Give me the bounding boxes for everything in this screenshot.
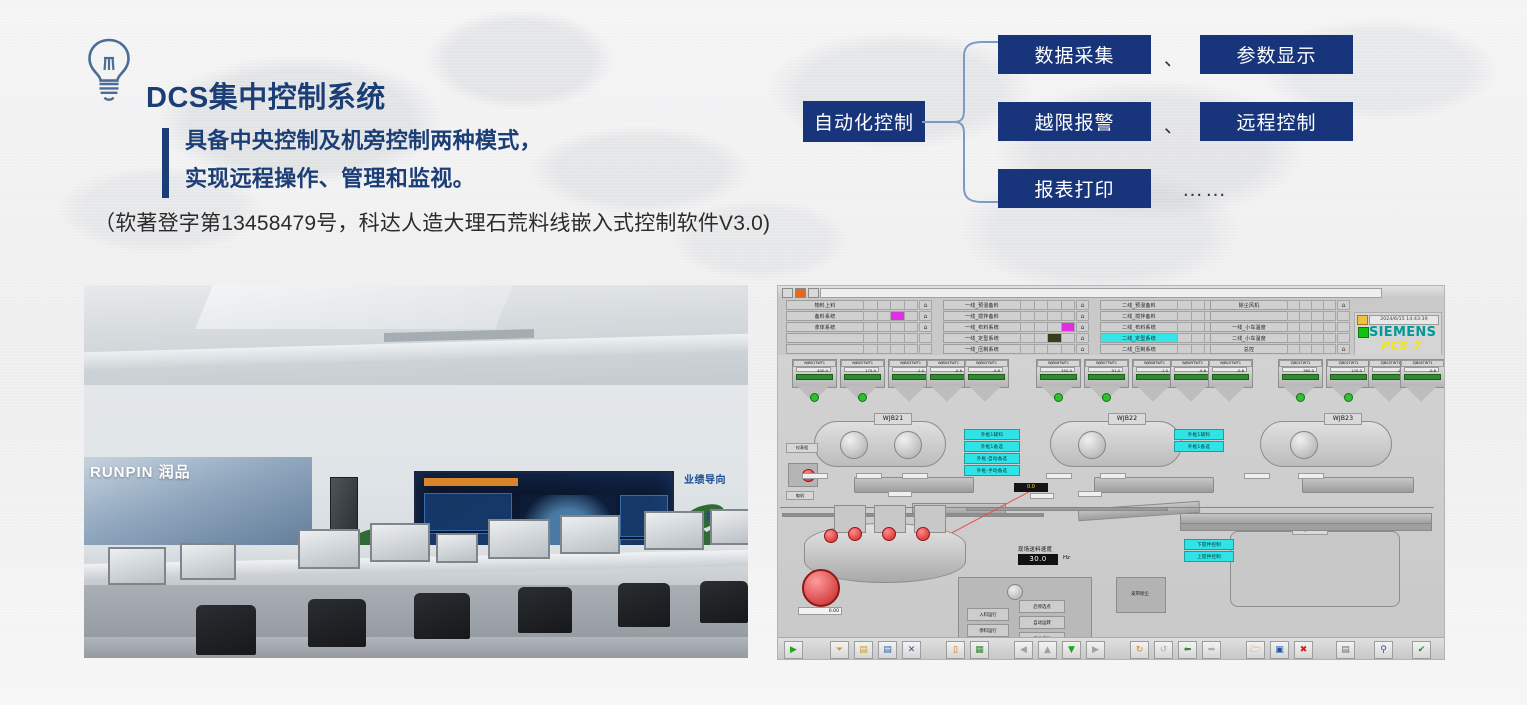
hmi-state-cell: [1323, 300, 1336, 310]
hmi-state-cells: [1021, 311, 1075, 321]
hmi-state-cell: [1034, 300, 1049, 310]
conveyor-frame: [782, 513, 1044, 517]
hmi-state-cell: [1323, 311, 1336, 321]
subtitle-block: 具备中央控制及机旁控制两种模式， 实现远程操作、管理和监视。: [162, 122, 542, 198]
hmi-area-label: 浆体系统: [786, 322, 864, 332]
measurement-field: [1078, 491, 1102, 497]
shuffle-icon[interactable]: ✕: [902, 641, 921, 659]
hmi-state-cells: [1021, 300, 1075, 310]
hmi-state-cell: [1177, 333, 1192, 343]
silo-cone: [1405, 386, 1437, 402]
silo-tag: ZJB02TWT1: [1327, 360, 1370, 367]
silo-cone: [893, 386, 925, 402]
hmi-area-row[interactable]: 浆体系统 ⌂: [786, 322, 932, 332]
page-title: DCS集中控制系统: [146, 74, 386, 116]
pcs7-logo: PCS 7: [1381, 339, 1422, 353]
key-icon[interactable]: ⚲: [1374, 641, 1393, 659]
control-room-photo: RUNPIN 润品 业绩导向 合作: [84, 285, 748, 658]
hmi-area-label: 除尘风机: [1210, 300, 1288, 310]
silo-unit[interactable]: WJB08TWT1 -1.0: [1132, 359, 1175, 405]
hmi-area-row[interactable]: [1210, 311, 1350, 321]
silo-unit[interactable]: WJB01TWT1 400.0: [792, 359, 835, 405]
mixer-rotor-icon: [1290, 431, 1318, 459]
hmi-scada-screenshot: 物料上料 ⌂ 备料系统 ⌂ 浆体: [777, 285, 1445, 660]
led-wall-title-bar: [424, 478, 518, 486]
hmi-bell-icon[interactable]: [919, 344, 932, 354]
hmi-bell-icon[interactable]: ⌂: [1076, 322, 1089, 332]
hmi-area-label: [786, 344, 864, 354]
silo-tag: WJB02TWT1: [841, 360, 884, 367]
hmi-state-cells: [864, 300, 918, 310]
office-chair: [414, 593, 470, 639]
operator-monitor: [436, 533, 478, 563]
silo-value: 350.0: [1040, 367, 1075, 372]
hmi-state-cell: [1034, 311, 1049, 321]
hmi-state-cell: [877, 344, 892, 354]
measurement-field: [1046, 473, 1072, 479]
alarm-signal-line: [994, 507, 1434, 508]
office-chair: [518, 587, 572, 633]
silo-value: 380.0: [1282, 367, 1317, 372]
hmi-area-label-selected: 二线_定型系统: [1100, 333, 1178, 343]
office-chair: [618, 583, 670, 627]
hmi-area-row[interactable]: 一线_小车温度: [1210, 322, 1350, 332]
alarm-icon[interactable]: [795, 288, 806, 298]
measurement-field: [856, 473, 882, 479]
silo-cone: [1137, 386, 1169, 402]
silo-status-led-icon: [1296, 393, 1305, 402]
flow-box-parameter-display[interactable]: 参数显示: [1200, 35, 1353, 74]
hmi-state-cell: [1177, 300, 1192, 310]
press-unit[interactable]: [1230, 531, 1400, 607]
hmi-bell-icon[interactable]: ⌂: [1076, 311, 1089, 321]
hmi-state-cell: [890, 333, 905, 343]
silo-unit[interactable]: ZJB02TWT1 120.0: [1326, 359, 1369, 405]
silo-level-bar: [1282, 374, 1319, 380]
hmi-process-canvas[interactable]: WJB01TWT1 400.0 WJB02TWT1 175.0 WJB03TWT…: [778, 355, 1444, 637]
silo-tag: WJB01TWT1: [793, 360, 836, 367]
hmi-bell-icon[interactable]: ⌂: [1337, 300, 1350, 310]
office-chair: [196, 605, 256, 655]
silo-tag: WJB05TWT1: [965, 360, 1008, 367]
silo-unit[interactable]: WJB05TWT1 -0.6: [964, 359, 1007, 405]
hmi-state-cell: [1177, 311, 1192, 321]
flow-separator-2: 、: [1164, 111, 1183, 138]
silo-value: -1.0: [892, 367, 927, 372]
mixer-rotor-icon: [894, 431, 922, 459]
silo-unit[interactable]: WJB02TWT1 175.0: [840, 359, 883, 405]
valve-icon[interactable]: [916, 527, 930, 541]
silo-tag: ZJB04TWT1: [1401, 360, 1444, 367]
hmi-area-row[interactable]: 二线_小车温度: [1210, 333, 1350, 343]
measurement-field: [1298, 473, 1324, 479]
hmi-area-label: 二线_压制系统: [1100, 344, 1178, 354]
hmi-area-label: 二线_搅拌备料: [1100, 311, 1178, 321]
hmi-area-label: 备料系统: [786, 311, 864, 321]
silo-value: -1.0: [1136, 367, 1171, 372]
hmi-state-cell: [890, 344, 905, 354]
nav-down-icon[interactable]: ▼: [1062, 641, 1081, 659]
run-icon[interactable]: ▶: [784, 641, 803, 659]
close-red-icon[interactable]: ✖: [1294, 641, 1313, 659]
hmi-state-cell: [1034, 333, 1049, 343]
silo-status-led-icon: [858, 393, 867, 402]
silo-status-led-icon: [810, 393, 819, 402]
measurement-field: [888, 491, 912, 497]
measurement-field: [1030, 493, 1054, 499]
hmi-bell-icon[interactable]: [1337, 311, 1350, 321]
silo-tag: WJB06TWT1: [1037, 360, 1080, 367]
speed-panel-unit: Hz: [1063, 555, 1070, 561]
flow-box-remote-control[interactable]: 远程控制: [1200, 102, 1353, 141]
silo-value: -0.6: [1212, 367, 1247, 372]
speed-panel-label: 现场送料速度: [1018, 545, 1052, 553]
hmi-state-cell: [863, 344, 878, 354]
left-panel-label-1: 仪表柜: [786, 443, 818, 453]
hmi-area-label: 物料上料: [786, 300, 864, 310]
silo-tag: WJB10TWT1: [1209, 360, 1252, 367]
hmi-area-label: [786, 333, 864, 343]
flow-ellipsis: ……: [1182, 178, 1228, 202]
status-led-icon: [1358, 327, 1369, 338]
silo-value: -0.6: [968, 367, 1003, 372]
hmi-area-label: 一线_定型系统: [943, 333, 1021, 343]
operator-monitor: [108, 547, 166, 585]
hmi-state-cell: [877, 322, 892, 332]
silo-unit[interactable]: WJB04TWT1 -0.6: [926, 359, 969, 405]
mixer-unit[interactable]: [1050, 421, 1182, 467]
operator-monitor: [488, 519, 550, 559]
conveyor-belt[interactable]: [1094, 477, 1214, 493]
hmi-area-overview: 物料上料 ⌂ 备料系统 ⌂ 浆体: [778, 298, 1444, 355]
hmi-state-cell: [904, 300, 919, 310]
banner-text: RUNPIN 润品: [90, 461, 191, 482]
office-chair: [700, 581, 748, 623]
silo-level-bar: [796, 374, 833, 380]
hmi-state-cell-warning: [1047, 333, 1062, 343]
cyan-command-button[interactable]: 下搅拌控制: [1184, 539, 1234, 550]
hmi-bell-icon[interactable]: ⌂: [1076, 300, 1089, 310]
hmi-bell-icon[interactable]: ⌂: [919, 322, 932, 332]
measurement-field: [1100, 473, 1126, 479]
hmi-state-cells: [1021, 333, 1075, 343]
hmi-area-column: 除尘风机 ⌂ 一线_小车温度: [1210, 300, 1350, 355]
hmi-state-cell: [877, 311, 892, 321]
mixer-rotor-icon: [1078, 431, 1106, 459]
cyan-command-button[interactable]: 外框1辅料: [1174, 429, 1224, 440]
floor: [84, 637, 748, 658]
hmi-state-cell: [1020, 344, 1035, 354]
hmi-state-cell: [1323, 333, 1336, 343]
hmi-bell-icon[interactable]: ⌂: [1076, 333, 1089, 343]
silo-level-bar: [1330, 374, 1367, 380]
copy-icon[interactable]: ▤: [854, 641, 873, 659]
hmi-state-cell: [1061, 311, 1076, 321]
silo-value: -0.6: [1174, 367, 1209, 372]
hmi-area-row[interactable]: 一线_搅拌备料 ⌂: [943, 311, 1089, 321]
operator-monitor: [370, 523, 430, 562]
hmi-state-cell: [904, 344, 919, 354]
hmi-area-row[interactable]: [786, 333, 932, 343]
filter-icon[interactable]: ⏷: [830, 641, 849, 659]
hmi-bell-icon[interactable]: ⌂: [1076, 344, 1089, 354]
rotary-dial-value: 0.00: [798, 607, 842, 615]
hmi-area-label: 二线_预混备料: [1100, 300, 1178, 310]
faceplate-motor-icon: [1007, 584, 1023, 600]
valve-icon[interactable]: [848, 527, 862, 541]
open-folder-icon[interactable]: 🗁: [1246, 641, 1265, 659]
hmi-state-cell: [1034, 344, 1049, 354]
hmi-state-cell: [904, 322, 919, 332]
silo-level-bar: [1136, 374, 1173, 380]
mixer-rotor-icon: [840, 431, 868, 459]
cyan-command-button[interactable]: 上搅拌控制: [1184, 551, 1234, 562]
speed-panel-value: 30.0: [1018, 554, 1058, 565]
inline-numeric-display: 0.0: [1014, 483, 1048, 492]
hmi-state-cell: [1191, 300, 1206, 310]
hmi-state-cells: [1288, 322, 1336, 332]
cyan-command-button[interactable]: 外框-手动备选: [964, 465, 1020, 476]
flow-separator-1: 、: [1164, 44, 1183, 71]
license-note: （软著登字第13458479号，科达人造大理石荒料线嵌入式控制软件V3.0): [94, 207, 770, 237]
hmi-area-row[interactable]: 除尘风机 ⌂: [1210, 300, 1350, 310]
hmi-state-cells: [1021, 322, 1075, 332]
hmi-state-cell: [1191, 333, 1206, 343]
silo-cone: [1213, 386, 1245, 402]
hmi-state-cell: [1323, 322, 1336, 332]
hmi-bell-icon[interactable]: [919, 333, 932, 343]
hmi-area-label: 总控: [1210, 344, 1288, 354]
hmi-state-cell: [1191, 344, 1206, 354]
cyan-command-button[interactable]: 外框1备选: [1174, 441, 1224, 452]
hmi-state-cell: [877, 300, 892, 310]
silo-unit[interactable]: ZJB01TWT1 380.0: [1278, 359, 1321, 405]
hmi-area-label: 一线_压制系统: [943, 344, 1021, 354]
hmi-state-cell: [863, 333, 878, 343]
hmi-bell-icon[interactable]: [1337, 333, 1350, 343]
refresh-icon[interactable]: ↻: [1130, 641, 1149, 659]
hmi-state-cells: [864, 344, 918, 354]
hmi-state-cell: [1047, 311, 1062, 321]
hmi-area-label: 二线_布料系统: [1100, 322, 1178, 332]
faceplate-button[interactable]: 自动运转: [1019, 616, 1065, 629]
faceplate-button[interactable]: 入料运行: [967, 608, 1009, 621]
hmi-area-row[interactable]: [786, 344, 932, 354]
hmi-area-row[interactable]: 总控 ⌂: [1210, 344, 1350, 354]
cyan-command-button[interactable]: 外框-自动备选: [964, 453, 1020, 464]
wall-slogan-line-1: 业绩导向: [684, 471, 748, 486]
silo-status-led-icon: [1054, 393, 1063, 402]
silo-value: 120.0: [1330, 367, 1365, 372]
silo-status-led-icon: [1344, 393, 1353, 402]
flow-box-report-printing[interactable]: 报表打印: [998, 169, 1151, 208]
hmi-state-cell: [890, 300, 905, 310]
nav-left-icon[interactable]: ◀: [1014, 641, 1033, 659]
hmi-area-row[interactable]: 一线_预混备料 ⌂: [943, 300, 1089, 310]
hmi-area-label: 一线_搅拌备料: [943, 311, 1021, 321]
hmi-address-field[interactable]: [820, 288, 1382, 298]
silo-unit[interactable]: WJB03TWT1 -1.0: [888, 359, 931, 405]
siemens-logo: SIEMENS: [1369, 325, 1436, 340]
silo-level-bar: [1212, 374, 1249, 380]
hmi-state-cell: [1061, 300, 1076, 310]
hmi-area-row[interactable]: 一线_布料系统 ⌂: [943, 322, 1089, 332]
operator-monitor: [710, 509, 748, 545]
hmi-state-cell: [904, 311, 919, 321]
flow-root-box[interactable]: 自动化控制: [803, 101, 925, 142]
hmi-state-cell: [863, 300, 878, 310]
hmi-timestamp: 2024/6/15 14:43:39: [1369, 315, 1439, 325]
hmi-area-label: 二线_小车温度: [1210, 333, 1288, 343]
hmi-bell-icon[interactable]: ⌂: [1337, 344, 1350, 354]
hmi-state-cells: [864, 333, 918, 343]
measurement-field: [902, 473, 928, 479]
hmi-area-column: 物料上料 ⌂ 备料系统 ⌂ 浆体: [786, 300, 932, 355]
back-icon[interactable]: ⬅: [1178, 641, 1197, 659]
silo-value: -0.6: [1404, 367, 1439, 372]
hmi-state-cell: [1061, 333, 1076, 343]
subtitle-line-2: 实现远程操作、管理和监视。: [185, 160, 542, 198]
hmi-area-label: 一线_小车温度: [1210, 322, 1288, 332]
hmi-state-cells: [1288, 311, 1336, 321]
hmi-area-row[interactable]: 物料上料 ⌂: [786, 300, 932, 310]
hmi-toolbar[interactable]: ▶ ⏷ ▤ ▤ ✕ ▯ ▦ ◀ ▲ ▼ ▶ ↻ ↺ ⬅ ➡ 🗁 ▣ ✖ ▤ ⚲ …: [778, 637, 1444, 660]
hmi-bell-icon[interactable]: [1337, 322, 1350, 332]
operator-monitor: [644, 511, 704, 550]
curly-brace-connector-icon: [920, 30, 1010, 220]
hmi-area-label: 一线_布料系统: [943, 322, 1021, 332]
hmi-state-cell: [890, 322, 905, 332]
hmi-state-cell: [1020, 333, 1035, 343]
silo-level-bar: [1174, 374, 1211, 380]
silo-unit[interactable]: WJB09TWT1 -0.6: [1170, 359, 1213, 405]
flow-box-data-acquisition[interactable]: 数据采集: [998, 35, 1151, 74]
hmi-state-cell: [1177, 344, 1192, 354]
valve-icon[interactable]: [882, 527, 896, 541]
silo-level-bar: [968, 374, 1005, 380]
hmi-state-cell: [1047, 344, 1062, 354]
valve-icon[interactable]: [824, 529, 838, 543]
report-icon[interactable]: ▯: [946, 641, 965, 659]
print-icon[interactable]: ▤: [1336, 641, 1355, 659]
hmi-state-cells: [1288, 300, 1336, 310]
hmi-state-cell: [1191, 311, 1206, 321]
faceplate-button[interactable]: 停料运行: [967, 624, 1009, 637]
hmi-state-cell: [863, 322, 878, 332]
mixer-tag: WJB22: [1108, 413, 1146, 425]
operator-monitor: [298, 529, 360, 569]
mixer-tag: WJB21: [874, 413, 912, 425]
flow-diagram: 自动化控制 数据采集 、 参数显示 越限报警 、 远程控制 报表打印 ……: [800, 30, 1500, 230]
add-item-icon[interactable]: ▦: [970, 641, 989, 659]
silo-value: 400.0: [796, 367, 831, 372]
minimize-icon[interactable]: [782, 288, 793, 298]
silo-value: 91.0: [1088, 367, 1123, 372]
hmi-bell-icon[interactable]: ⌂: [919, 300, 932, 310]
ceiling-beam: [195, 285, 513, 329]
save-icon[interactable]: ▣: [1270, 641, 1289, 659]
hmi-state-cell: [1047, 322, 1062, 332]
silo-level-bar: [1088, 374, 1125, 380]
hmi-area-column: 一线_预混备料 ⌂ 一线_搅拌备料 ⌂: [943, 300, 1089, 355]
operator-monitor: [560, 515, 620, 554]
hmi-area-row[interactable]: 一线_定型系统 ⌂: [943, 333, 1089, 343]
silo-level-bar: [844, 374, 881, 380]
hmi-state-cell: [1020, 300, 1035, 310]
accent-bar: [162, 128, 169, 198]
hmi-area-label: 一线_预混备料: [943, 300, 1021, 310]
silo-level-bar: [1404, 374, 1441, 380]
export-icon[interactable]: ▤: [878, 641, 897, 659]
hmi-bell-icon[interactable]: ⌂: [919, 311, 932, 321]
silo-unit[interactable]: ZJB04TWT1 -0.6: [1400, 359, 1443, 405]
hmi-state-cell: [863, 311, 878, 321]
conveyor-belt[interactable]: [854, 477, 974, 493]
mixer-tag: WJB23: [1324, 413, 1362, 425]
lightbulb-icon: [84, 36, 134, 104]
silo-unit[interactable]: WJB07TWT1 91.0: [1084, 359, 1127, 405]
left-panel-label-2: 电机: [786, 491, 814, 500]
hmi-state-cell: [1177, 322, 1192, 332]
measurement-field: [802, 473, 828, 479]
flow-box-limit-alarm[interactable]: 越限报警: [998, 102, 1151, 141]
hmi-state-cell: [1061, 344, 1076, 354]
hmi-state-cell: [877, 333, 892, 343]
mixer-unit[interactable]: [814, 421, 946, 467]
office-chair: [308, 599, 366, 647]
cyan-command-button[interactable]: 外框1备选: [964, 441, 1020, 452]
silo-tag: WJB07TWT1: [1085, 360, 1128, 367]
silo-value: 175.0: [844, 367, 879, 372]
silo-value: -0.6: [930, 367, 965, 372]
undo-icon[interactable]: ↺: [1154, 641, 1173, 659]
silo-unit[interactable]: WJB10TWT1 -0.6: [1208, 359, 1251, 405]
cyan-command-button[interactable]: 外框1辅料: [964, 429, 1020, 440]
hmi-state-cells: [1288, 333, 1336, 343]
hmi-area-row[interactable]: 一线_压制系统 ⌂: [943, 344, 1089, 354]
hmi-area-row[interactable]: 备料系统 ⌂: [786, 311, 932, 321]
main-rotary-dial[interactable]: [802, 569, 840, 607]
subtitle-line-1: 具备中央控制及机旁控制两种模式，: [185, 122, 542, 160]
hmi-state-cells: [1288, 344, 1336, 354]
hmi-state-cells: [864, 311, 918, 321]
hmi-state-cells: [864, 322, 918, 332]
hmi-state-cell: [1191, 322, 1206, 332]
silo-cone: [1175, 386, 1207, 402]
measurement-field: [1244, 473, 1270, 479]
hmi-state-cell: [1323, 344, 1336, 354]
help-icon[interactable]: [808, 288, 819, 298]
ack-all-icon[interactable]: ✔: [1412, 641, 1431, 659]
operator-monitor: [180, 543, 236, 580]
silo-unit[interactable]: WJB06TWT1 350.0: [1036, 359, 1079, 405]
clock-icon: [1357, 315, 1368, 325]
mixer-unit[interactable]: [1260, 421, 1392, 467]
silo-tag: ZJB01TWT1: [1279, 360, 1322, 367]
silo-level-bar: [930, 374, 967, 380]
conveyor-belt[interactable]: [1302, 477, 1414, 493]
forward-icon[interactable]: ➡: [1202, 641, 1221, 659]
hmi-state-cell: [1020, 322, 1035, 332]
hmi-state-cells: [1021, 344, 1075, 354]
conveyor-frame: [1180, 523, 1432, 531]
hmi-state-cell: [1020, 311, 1035, 321]
nav-up-icon[interactable]: ▲: [1038, 641, 1057, 659]
nav-right-icon[interactable]: ▶: [1086, 641, 1105, 659]
faceplate-button[interactable]: 启停选点: [1019, 600, 1065, 613]
dust-collector-label: 皮带除尘: [1120, 591, 1160, 597]
silo-cone: [931, 386, 963, 402]
